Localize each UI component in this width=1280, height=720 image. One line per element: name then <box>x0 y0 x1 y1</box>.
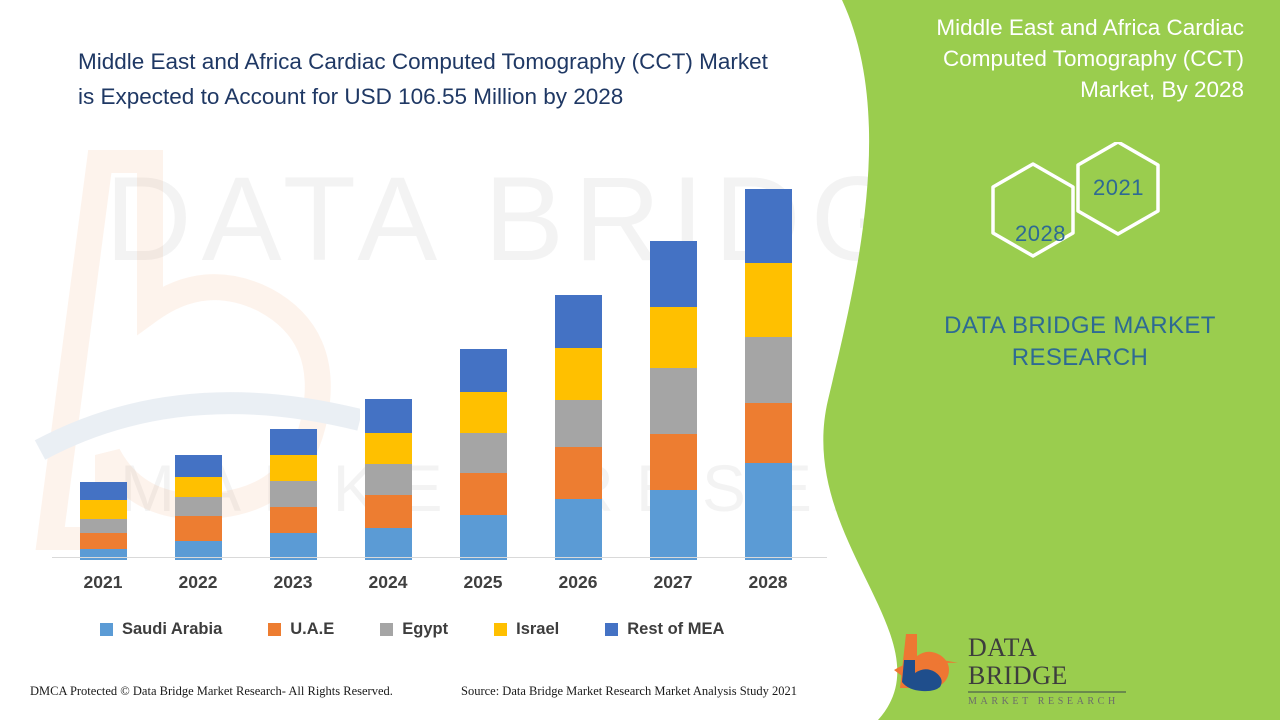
bar-column-2022 <box>175 455 222 560</box>
bar-segment-saudi-arabia-2021 <box>80 549 127 560</box>
legend-item-rest-of-mea[interactable]: Rest of MEA <box>605 620 724 639</box>
bar-segment-egypt-2022 <box>175 497 222 516</box>
bar-segment-israel-2028 <box>745 263 792 337</box>
bar-column-2021 <box>80 482 127 560</box>
infographic-root: DATA BRIDGE MARKET RESEARCH Middle East … <box>0 0 1280 720</box>
footer-source: Source: Data Bridge Market Research Mark… <box>461 684 797 699</box>
bar-segment-egypt-2024 <box>365 464 412 495</box>
x-label-2026: 2026 <box>538 572 618 593</box>
legend-item-israel[interactable]: Israel <box>494 620 559 639</box>
x-label-2025: 2025 <box>443 572 523 593</box>
bar-segment-u-a-e-2024 <box>365 495 412 528</box>
bar-segment-rest-of-mea-2025 <box>460 349 507 392</box>
bar-segment-egypt-2028 <box>745 337 792 403</box>
legend-swatch-icon <box>380 623 393 636</box>
footer-copyright: DMCA Protected © Data Bridge Market Rese… <box>30 684 393 699</box>
bar-segment-u-a-e-2025 <box>460 473 507 515</box>
bar-column-2023 <box>270 429 317 560</box>
panel-brand-line1: DATA BRIDGE MARKET <box>900 310 1260 342</box>
x-label-2024: 2024 <box>348 572 428 593</box>
legend-label: U.A.E <box>290 620 334 639</box>
x-axis-labels: 20212022202320242025202620272028 <box>52 572 827 600</box>
chart-title: Middle East and Africa Cardiac Computed … <box>78 44 778 114</box>
legend-label: Israel <box>516 620 559 639</box>
bar-segment-rest-of-mea-2022 <box>175 455 222 477</box>
bar-segment-israel-2021 <box>80 500 127 519</box>
x-label-2023: 2023 <box>253 572 333 593</box>
x-label-2028: 2028 <box>728 572 808 593</box>
bar-segment-u-a-e-2028 <box>745 403 792 463</box>
dbmr-logo-mark-icon <box>890 630 960 692</box>
bar-segment-rest-of-mea-2021 <box>80 482 127 500</box>
bar-column-2028 <box>745 189 792 560</box>
x-label-2022: 2022 <box>158 572 238 593</box>
bar-segment-egypt-2025 <box>460 433 507 473</box>
bar-segment-u-a-e-2022 <box>175 516 222 541</box>
bar-segment-israel-2025 <box>460 392 507 433</box>
bar-segment-saudi-arabia-2023 <box>270 533 317 560</box>
x-axis-line <box>52 557 827 558</box>
dbmr-logo-sub: MARKET RESEARCH <box>968 696 1128 707</box>
legend-label: Egypt <box>402 620 448 639</box>
bar-column-2024 <box>365 399 412 560</box>
bar-segment-u-a-e-2023 <box>270 507 317 533</box>
bar-segment-israel-2024 <box>365 433 412 464</box>
bar-segment-egypt-2023 <box>270 481 317 507</box>
dbmr-logo-main: DATA BRIDGE <box>968 634 1128 690</box>
chart-plot-area <box>52 170 827 560</box>
bar-segment-u-a-e-2026 <box>555 447 602 499</box>
bar-segment-rest-of-mea-2026 <box>555 295 602 348</box>
bar-segment-israel-2027 <box>650 307 697 368</box>
bar-segment-saudi-arabia-2024 <box>365 528 412 560</box>
bar-segment-saudi-arabia-2025 <box>460 515 507 560</box>
legend-swatch-icon <box>494 623 507 636</box>
bar-segment-saudi-arabia-2028 <box>745 463 792 560</box>
chart-legend: Saudi ArabiaU.A.EEgyptIsraelRest of MEA <box>100 617 770 641</box>
bar-segment-israel-2023 <box>270 455 317 481</box>
bar-segment-rest-of-mea-2027 <box>650 241 697 307</box>
bar-column-2025 <box>460 349 507 560</box>
bar-segment-rest-of-mea-2024 <box>365 399 412 433</box>
legend-item-saudi-arabia[interactable]: Saudi Arabia <box>100 620 222 639</box>
bar-segment-u-a-e-2021 <box>80 533 127 549</box>
hexagon-2021-label: 2021 <box>1093 175 1144 201</box>
bar-segment-egypt-2026 <box>555 400 602 447</box>
bar-segment-u-a-e-2027 <box>650 434 697 490</box>
x-label-2027: 2027 <box>633 572 713 593</box>
bar-segment-israel-2026 <box>555 348 602 400</box>
bar-segment-egypt-2027 <box>650 368 697 434</box>
panel-title: Middle East and Africa Cardiac Computed … <box>884 12 1244 105</box>
hexagon-group: 2021 2028 <box>985 142 1185 292</box>
dbmr-logo-divider <box>968 691 1126 693</box>
legend-swatch-icon <box>605 623 618 636</box>
panel-brand-line2: RESEARCH <box>900 342 1260 374</box>
dbmr-logo-text: DATA BRIDGE MARKET RESEARCH <box>968 634 1128 707</box>
x-label-2021: 2021 <box>63 572 143 593</box>
bar-segment-rest-of-mea-2023 <box>270 429 317 455</box>
dbmr-logo: DATA BRIDGE MARKET RESEARCH <box>890 630 1120 692</box>
bar-segment-saudi-arabia-2026 <box>555 499 602 560</box>
legend-swatch-icon <box>268 623 281 636</box>
legend-swatch-icon <box>100 623 113 636</box>
legend-label: Rest of MEA <box>627 620 724 639</box>
bar-segment-egypt-2021 <box>80 519 127 533</box>
legend-item-egypt[interactable]: Egypt <box>380 620 448 639</box>
panel-brand-text: DATA BRIDGE MARKET RESEARCH <box>900 310 1260 374</box>
legend-item-u-a-e[interactable]: U.A.E <box>268 620 334 639</box>
bar-segment-rest-of-mea-2028 <box>745 189 792 263</box>
legend-label: Saudi Arabia <box>122 620 222 639</box>
bar-segment-saudi-arabia-2027 <box>650 490 697 560</box>
bar-column-2027 <box>650 241 697 560</box>
bar-column-2026 <box>555 295 602 560</box>
bar-segment-israel-2022 <box>175 477 222 497</box>
hexagon-2028-label: 2028 <box>1015 221 1066 247</box>
